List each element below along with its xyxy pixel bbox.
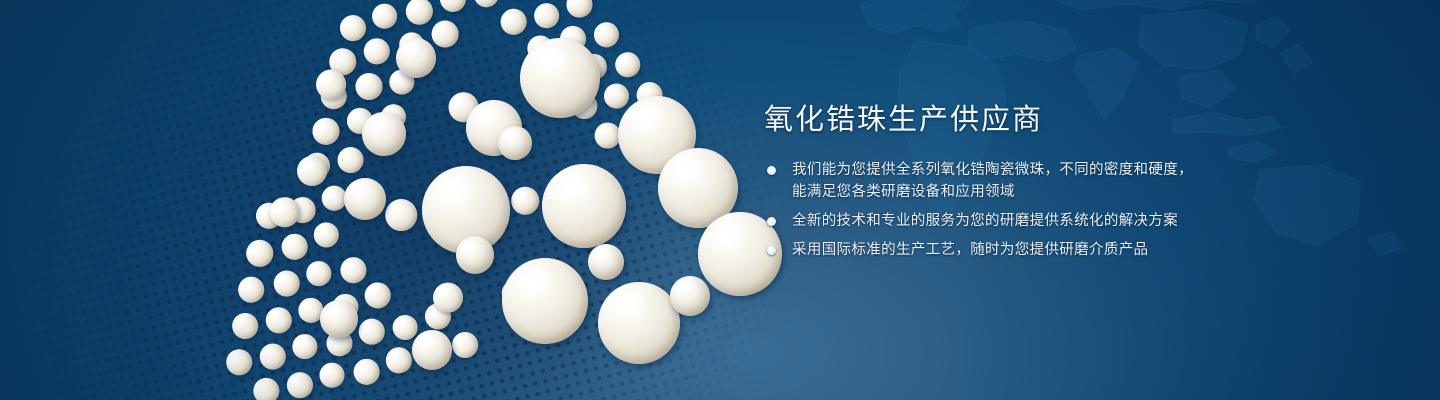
bullet-line-1: 全新的技术和专业的服务为您的研磨提供系统化的解决方案 [792, 213, 1178, 229]
bullet-dot-icon [767, 246, 776, 255]
bullet-line-2: 能满足您各类研磨设备和应用领域 [792, 181, 1284, 203]
page-title: 氧化锆珠生产供应商 [764, 104, 1284, 137]
list-item: 全新的技术和专业的服务为您的研磨提供系统化的解决方案 [764, 210, 1284, 232]
list-item: 采用国际标准的生产工艺，随时为您提供研磨介质产品 [764, 239, 1284, 261]
banner-copy-block: 氧化锆珠生产供应商 我们能为您提供全系列氧化锆陶瓷微珠，不同的密度和硬度， 能满… [764, 104, 1284, 261]
hero-banner: 氧化锆珠生产供应商 我们能为您提供全系列氧化锆陶瓷微珠，不同的密度和硬度， 能满… [0, 0, 1440, 400]
bullet-line-1: 我们能为您提供全系列氧化锆陶瓷微珠，不同的密度和硬度， [792, 162, 1193, 178]
list-item: 我们能为您提供全系列氧化锆陶瓷微珠，不同的密度和硬度， 能满足您各类研磨设备和应… [764, 159, 1284, 203]
feature-bullet-list: 我们能为您提供全系列氧化锆陶瓷微珠，不同的密度和硬度， 能满足您各类研磨设备和应… [764, 159, 1284, 261]
bullet-dot-icon [767, 166, 776, 175]
bullet-dot-icon [767, 217, 776, 226]
bullet-line-1: 采用国际标准的生产工艺，随时为您提供研磨介质产品 [792, 242, 1148, 258]
